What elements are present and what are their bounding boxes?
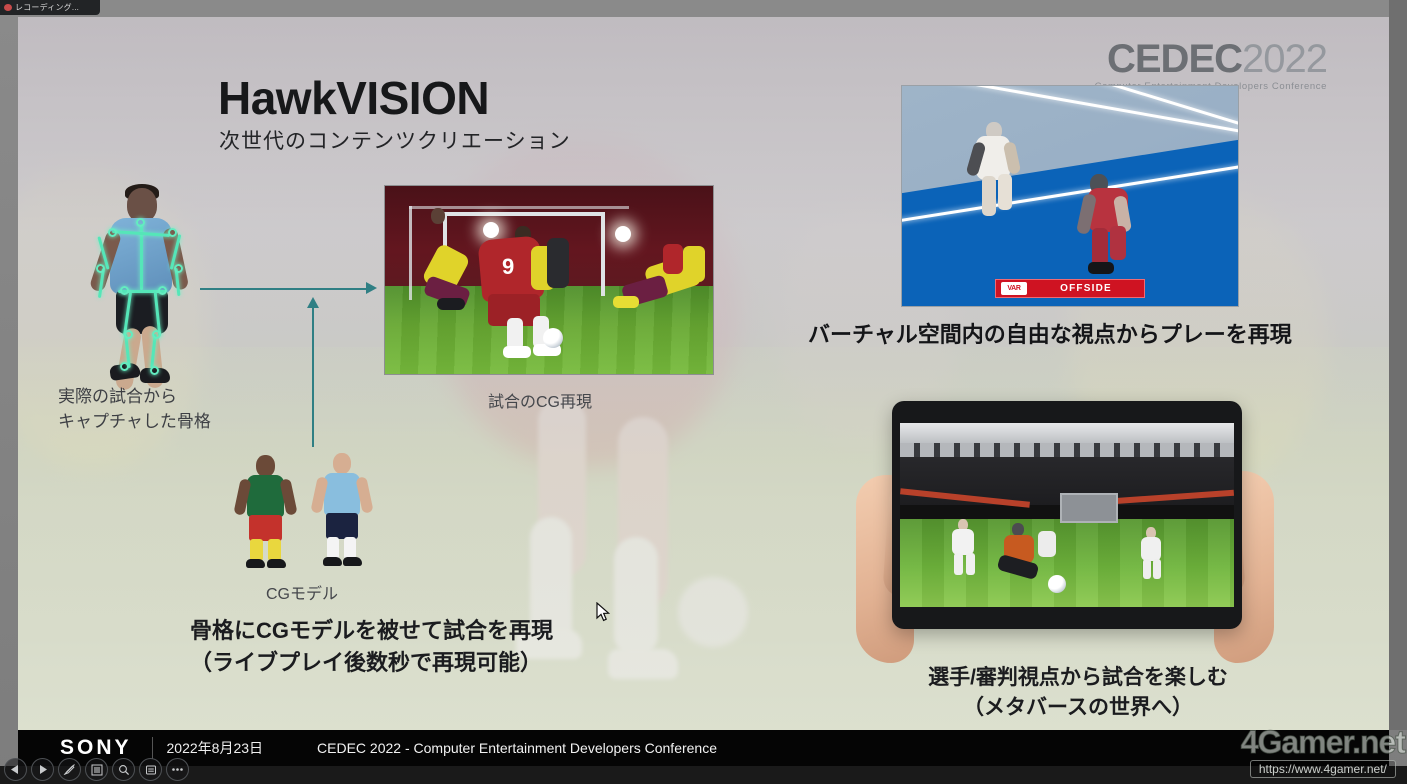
zoom-button[interactable] bbox=[112, 758, 135, 781]
skeleton-joint bbox=[150, 366, 159, 375]
skeleton-joint bbox=[152, 330, 161, 339]
watermark-logo: 4Gamer.net bbox=[1241, 726, 1405, 758]
caption-cg-replay: 試合のCG再現 bbox=[488, 388, 592, 412]
caption-capture: 実際の試合から キャプチャした骨格 bbox=[58, 385, 211, 434]
caption-overlay: 骨格にCGモデルを被せて試合を再現 （ライブプレイ後数秒で再現可能） bbox=[190, 615, 553, 679]
cg-replay-image: 9 bbox=[384, 185, 714, 375]
skeleton-joint bbox=[120, 286, 129, 295]
skeleton-joint bbox=[96, 264, 105, 273]
var-offside-panel: VAR OFFSIDE bbox=[901, 85, 1239, 307]
layout-button[interactable] bbox=[85, 758, 108, 781]
triangle-left-icon bbox=[11, 765, 20, 774]
more-options-button[interactable] bbox=[166, 758, 189, 781]
var-decision-badge: VAR OFFSIDE bbox=[995, 279, 1145, 298]
recording-indicator: レコーディング... bbox=[0, 0, 100, 15]
record-dot-icon bbox=[4, 4, 12, 11]
caption-overlay-line2: （ライブプレイ後数秒で再現可能） bbox=[190, 647, 553, 679]
pen-off-button[interactable] bbox=[58, 758, 81, 781]
slide-title: HawkVISION bbox=[218, 71, 489, 125]
footer-conference: CEDEC 2022 - Computer Entertainment Deve… bbox=[317, 740, 717, 756]
watermark-url: https://www.4gamer.net/ bbox=[1250, 760, 1396, 778]
cedec-logo-main: CEDEC2022 bbox=[1095, 39, 1327, 79]
sony-logo: SONY bbox=[60, 736, 132, 760]
caption-tablet-line1: 選手/審判視点から試合を楽しむ bbox=[892, 663, 1264, 693]
footer-date: 2022年8月23日 bbox=[167, 738, 264, 758]
skeleton-joint bbox=[120, 362, 129, 371]
caption-tablet-view: 選手/審判視点から試合を楽しむ （メタバースの世界へ） bbox=[892, 663, 1264, 724]
caption-capture-line1: 実際の試合から bbox=[58, 385, 211, 410]
skeleton-joint bbox=[168, 228, 177, 237]
skeleton-joint bbox=[174, 264, 183, 273]
footer-divider bbox=[152, 737, 153, 759]
skeleton-joint bbox=[108, 228, 117, 237]
skeleton-joint bbox=[136, 218, 145, 227]
presentation-video[interactable]: HawkVISION 次世代のコンテンツクリエーション CEDEC2022 Co… bbox=[18, 17, 1389, 730]
watermark: 4Gamer.net https://www.4gamer.net/ bbox=[1241, 726, 1405, 778]
caption-virtual-view: バーチャル空間内の自由な視点からプレーを再現 bbox=[808, 317, 1292, 349]
cedec-brand: CEDEC bbox=[1107, 37, 1242, 81]
skeleton-joint bbox=[124, 330, 133, 339]
slide-content: HawkVISION 次世代のコンテンツクリエーション CEDEC2022 Co… bbox=[18, 17, 1389, 730]
slide-footer: SONY 2022年8月23日 CEDEC 2022 - Computer En… bbox=[18, 730, 1389, 766]
ellipsis-icon bbox=[171, 767, 184, 772]
play-button[interactable] bbox=[31, 758, 54, 781]
mouse-cursor bbox=[596, 602, 610, 622]
caption-overlay-line1: 骨格にCGモデルを被せて試合を再現 bbox=[190, 615, 553, 647]
caption-capture-line2: キャプチャした骨格 bbox=[58, 410, 211, 435]
cedec-year: 2022 bbox=[1242, 37, 1327, 81]
recording-label: レコーディング... bbox=[15, 2, 79, 13]
cg-model-figures bbox=[223, 435, 393, 585]
tablet-screen bbox=[900, 423, 1234, 607]
notes-button[interactable] bbox=[139, 758, 162, 781]
triangle-right-icon bbox=[38, 765, 47, 774]
motion-capture-figure bbox=[80, 182, 208, 382]
pen-slash-icon bbox=[63, 763, 76, 776]
var-chip-label: VAR bbox=[1001, 282, 1027, 295]
skeleton-joint bbox=[158, 286, 167, 295]
cg-player-number: 9 bbox=[502, 254, 514, 280]
tablet-device[interactable] bbox=[892, 401, 1242, 629]
var-decision-label: OFFSIDE bbox=[1033, 283, 1139, 294]
caption-tablet-line2: （メタバースの世界へ） bbox=[892, 693, 1264, 723]
desktop-right-edge bbox=[1389, 0, 1407, 730]
video-player-controls[interactable] bbox=[4, 758, 189, 781]
notes-icon bbox=[145, 764, 157, 776]
slide-subtitle: 次世代のコンテンツクリエーション bbox=[219, 125, 571, 155]
grid-icon bbox=[91, 764, 103, 776]
desktop-bottom-edge bbox=[0, 766, 1407, 784]
magnifier-icon bbox=[118, 764, 130, 776]
previous-slide-button[interactable] bbox=[4, 758, 27, 781]
caption-cg-model: CGモデル bbox=[266, 580, 338, 604]
